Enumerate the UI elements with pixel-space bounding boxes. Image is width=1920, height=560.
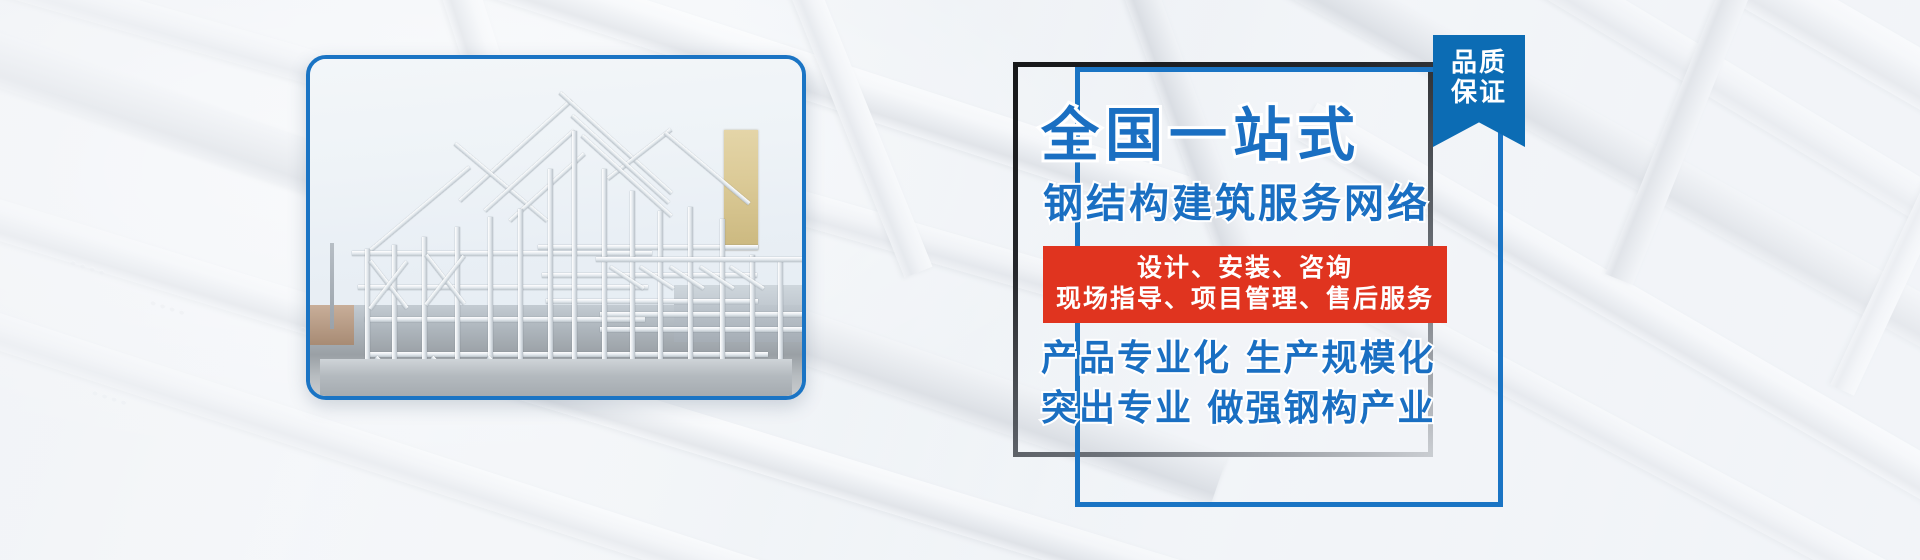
tagline-list: 产品专业化 生产规模化 突出专业 做强钢构产业: [1041, 334, 1436, 433]
page-subtitle: 钢结构建筑服务网络: [1043, 184, 1430, 224]
badge-line-2: 保证: [1451, 78, 1507, 108]
steel-beam-structure-background: [0, 0, 1920, 560]
photo-frame-member: [546, 299, 758, 304]
services-callout: 设计、安装、咨询 现场指导、项目管理、售后服务: [1043, 246, 1447, 323]
photo-frame-member: [538, 245, 758, 250]
photo-frame-member: [572, 131, 577, 396]
banner-stage: 钢结构住宅施工现场 全国一站式 钢结构建筑服务网络 设计、安装、咨询 现场指导、…: [0, 0, 1920, 560]
photo-frame-member: [368, 352, 768, 357]
services-line-1: 设计、安装、咨询: [1043, 253, 1447, 284]
photo-frame-member: [352, 251, 652, 256]
page-title: 全国一站式: [1041, 106, 1361, 164]
services-line-2: 现场指导、项目管理、售后服务: [1043, 284, 1447, 315]
photo-concrete-slab: [320, 359, 792, 396]
steel-frame-house-photo: 钢结构住宅施工现场: [306, 55, 806, 400]
badge-line-1: 品质: [1451, 48, 1507, 78]
photo-frame-member: [596, 257, 802, 262]
tagline-2: 突出专业 做强钢构产业: [1041, 384, 1436, 434]
promo-text-panel: 全国一站式 钢结构建筑服务网络 设计、安装、咨询 现场指导、项目管理、售后服务 …: [1013, 62, 1503, 462]
background-overlay-wash: [0, 0, 1920, 560]
tagline-1: 产品专业化 生产规模化: [1041, 334, 1436, 384]
photo-utility-pole: [330, 243, 334, 329]
